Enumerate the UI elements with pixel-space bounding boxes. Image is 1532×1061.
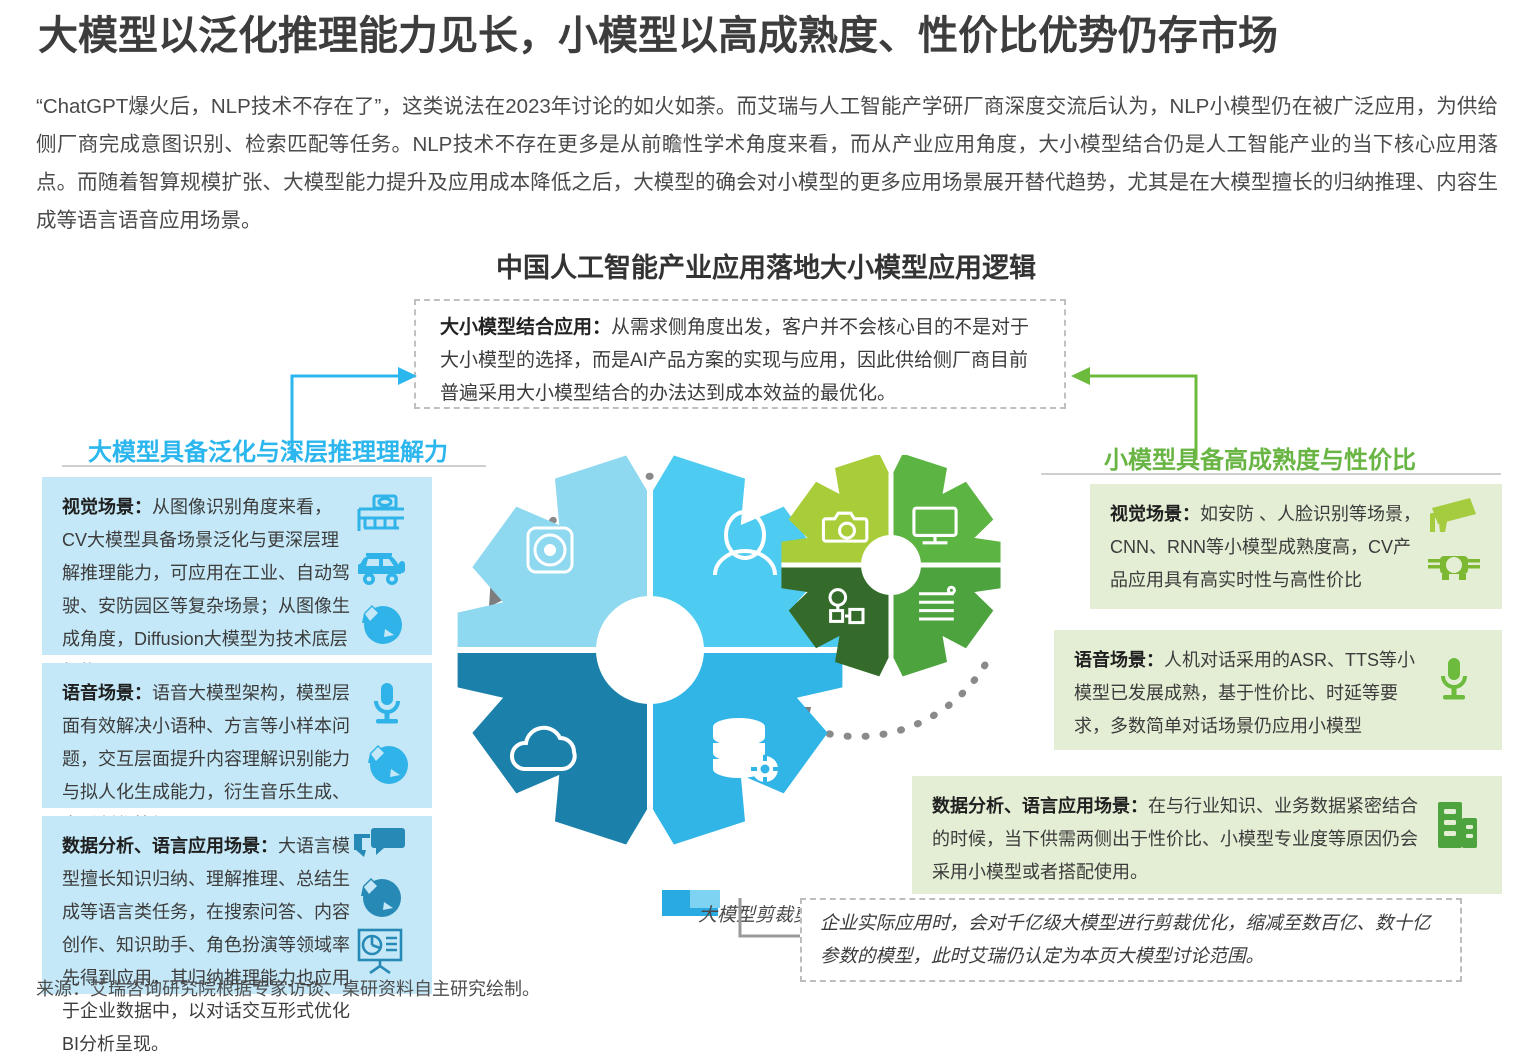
left-box-speech: 语音场景：语音大模型架构，模型层面有效解决小语种、方言等小样本问题，交互层面提升… [42, 663, 432, 808]
right-box-speech: 语音场景：人机对话采用的ASR、TTS等小模型已发展成熟，基于性价比、时延等要求… [1054, 630, 1502, 750]
pruning-callout-text: 企业实际应用时，会对千亿级大模型进行剪裁优化，缩减至数百亿、数十亿参数的模型，此… [820, 912, 1431, 966]
microphone-icon [367, 681, 407, 729]
right-box-speech-label: 语音场景： [1074, 650, 1164, 670]
right-box-speech-icons [1434, 656, 1474, 706]
left-box-data-icons [354, 824, 406, 974]
pruning-callout: 企业实际应用时，会对千亿级大模型进行剪裁优化，缩减至数百亿、数十亿参数的模型，此… [800, 898, 1462, 982]
right-column-heading: 小模型具备高成熟度与性价比 [1104, 440, 1416, 475]
left-box-vision-text: 从图像识别角度来看，CV大模型具备场景泛化与更深层理解推理能力，可应用在工业、自… [62, 497, 350, 682]
left-box-speech-label: 语音场景： [62, 683, 152, 703]
left-box-data-text: 大语言模型擅长知识归纳、理解推理、总结生成等语言类任务，在搜索问答、内容创作、知… [62, 836, 350, 1054]
combined-model-callout: 大小模型结合应用：从需求侧角度出发，客户并不会核心目的不是对于大小模型的选择，而… [414, 299, 1066, 409]
car-icon [354, 547, 408, 589]
gear-hub [596, 596, 704, 704]
pencil-circle-icon [356, 597, 406, 647]
building-icon [1432, 798, 1484, 852]
conveyor-machine-icon [355, 491, 407, 537]
right-column-rule [1041, 473, 1501, 475]
right-box-vision-icons [1426, 496, 1482, 586]
infographic-page: 大模型以泛化推理能力见长，小模型以高成熟度、性价比优势仍存市场 “ChatGPT… [0, 0, 1532, 1009]
right-box-data-label: 数据分析、语言应用场景： [932, 796, 1148, 816]
right-box-data-icons [1432, 798, 1484, 852]
security-camera-icon [1426, 496, 1482, 540]
chart-title: 中国人工智能产业应用落地大小模型应用逻辑 [0, 246, 1532, 285]
left-column-heading: 大模型具备泛化与深层推理理解力 [88, 432, 448, 467]
left-box-vision: 视觉场景：从图像识别角度来看，CV大模型具备场景泛化与更深层理解推理能力，可应用… [42, 477, 432, 655]
pencil-circle-icon [362, 737, 412, 787]
gear-hub [861, 535, 921, 595]
left-column-rule [62, 465, 486, 467]
presentation-chart-icon [354, 926, 406, 974]
combined-model-callout-label: 大小模型结合应用： [440, 317, 611, 338]
right-box-vision-label: 视觉场景： [1110, 504, 1200, 524]
right-box-data: 数据分析、语言应用场景：在与行业知识、业务数据紧密结合的时候，当下供需两侧出于性… [912, 776, 1502, 894]
projector-icon [1426, 550, 1482, 586]
left-box-speech-icons [362, 681, 412, 787]
left-box-data: 数据分析、语言应用场景：大语言模型擅长知识归纳、理解推理、总结生成等语言类任务，… [42, 816, 432, 994]
chat-bubbles-icon [354, 824, 406, 864]
source-note: 来源：艾瑞咨询研究院根据专家访谈、桌研资料自主研究绘制。 [36, 975, 540, 1001]
left-box-data-label: 数据分析、语言应用场景： [62, 836, 278, 856]
right-box-vision: 视觉场景：如安防 、人脸识别等场景，CNN、RNN等小模型成熟度高，CV产品应用… [1090, 484, 1502, 609]
microphone-icon [1434, 656, 1474, 706]
pencil-circle-icon [355, 870, 405, 920]
left-box-vision-label: 视觉场景： [62, 497, 152, 517]
page-headline: 大模型以泛化推理能力见长，小模型以高成熟度、性价比优势仍存市场 [38, 10, 1498, 62]
intro-paragraph: “ChatGPT爆火后，NLP技术不存在了”，这类说法在2023年讨论的如火如荼… [36, 88, 1498, 240]
left-box-speech-text: 语音大模型架构，模型层面有效解决小语种、方言等小样本问题，交互层面提升内容理解识… [62, 683, 350, 835]
intro-paragraph-text: “ChatGPT爆火后，NLP技术不存在了”，这类说法在2023年讨论的如火如荼… [36, 88, 1498, 240]
left-box-vision-icons [354, 491, 408, 647]
